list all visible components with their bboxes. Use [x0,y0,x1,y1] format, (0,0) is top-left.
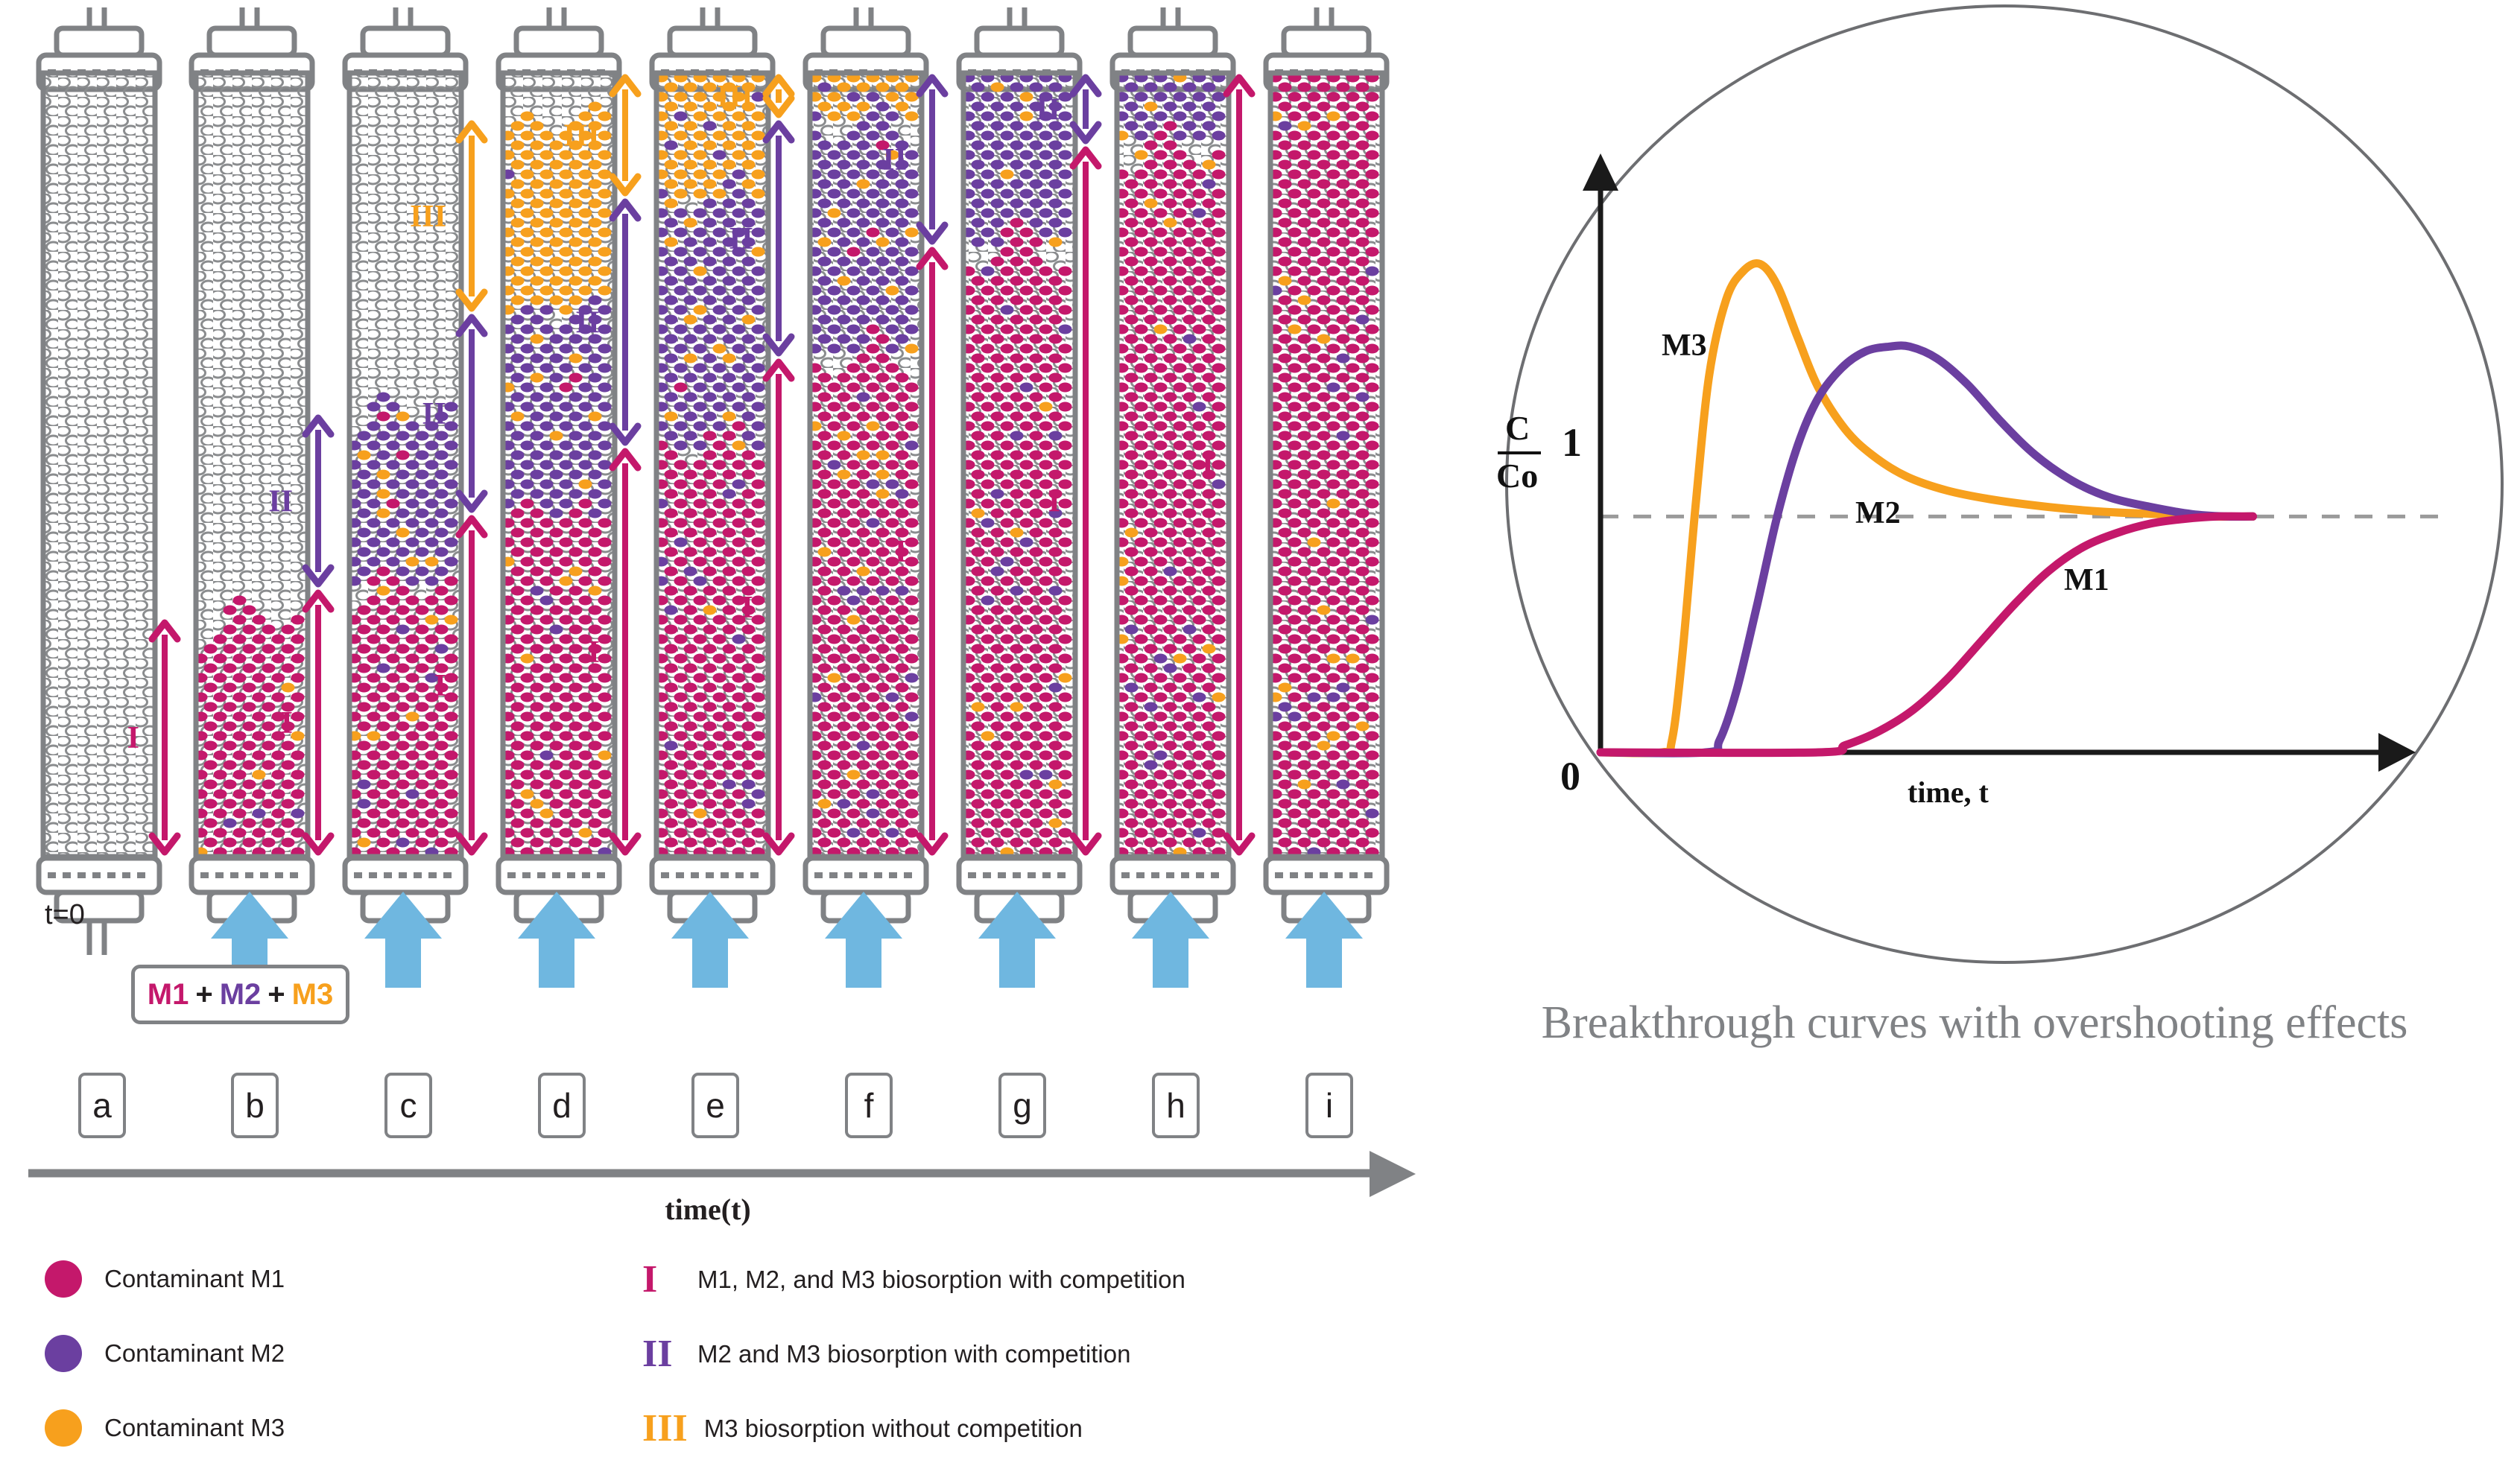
zone-numeral: II [1036,93,1060,127]
zone-numeral: I [1048,485,1060,519]
panel-label-text: i [1326,1085,1333,1126]
feed-plus-2: + [267,978,285,1012]
panel-label-text: f [864,1085,874,1126]
feed-m3: M3 [292,978,334,1012]
column-c [345,7,466,955]
chart-frame-ellipse [1507,6,2502,962]
zone-numeral: III [717,80,753,114]
panel-label-text: g [1013,1085,1032,1126]
legend-species-label: Contaminant M2 [104,1339,285,1368]
zone-numeral: III [563,119,600,153]
zone-numeral: I [1202,448,1214,483]
feed-m1: M1 [148,978,189,1012]
zone-numeral: II [882,143,907,177]
panel-label-a: a [78,1073,126,1138]
chart-xlabel: time, t [1908,775,1989,810]
legend-species-item: Contaminant M3 [45,1409,285,1447]
column-e [652,7,773,955]
chart-annotation-m3: M3 [1662,328,1707,364]
legend-swatch-m1-icon [45,1260,82,1298]
legend-zone-item: IM1, M2, and M3 biosorption with competi… [642,1257,1185,1301]
chart-ytick-0: 0 [1560,753,1580,799]
chart-title: Breakthrough curves with overshooting ef… [1438,997,2511,1050]
chart-ylabel-num: C [1505,408,1530,448]
legend-zone-label: M3 biosorption without competition [704,1415,1083,1443]
legend-species-label: Contaminant M3 [104,1414,285,1442]
legend-numeral-III: III [642,1406,688,1450]
timeline-axis [28,1151,1416,1197]
zone-numeral: II [422,397,446,431]
figure-canvas: IIIIIIIIIIIIIIIIIIIIIIIIIIIII [0,0,2520,1460]
panel-label-c: c [384,1073,432,1138]
timeline-label: time(t) [0,1192,1416,1227]
legend-species-label: Contaminant M1 [104,1265,285,1293]
t-zero-label: t=0 [45,899,85,931]
chart-x-axis-arrowhead [2378,733,2416,772]
legend-zone-item: IIM2 and M3 biosorption with competition [642,1332,1130,1376]
columns-group [39,7,1387,955]
panel-label-text: e [706,1085,725,1126]
legend-zone-item: IIIM3 biosorption without competition [642,1406,1083,1450]
panel-label-h: h [1152,1073,1200,1138]
legend-swatch-m2-icon [45,1335,82,1372]
legend-numeral-II: II [642,1332,681,1376]
panel-label-b: b [231,1073,279,1138]
zone-numeral: II [268,485,293,519]
feed-m2: M2 [220,978,262,1012]
chart-series-M1 [1601,516,2253,753]
panel-label-text: a [92,1085,112,1126]
legend-numeral-I: I [642,1257,681,1301]
panel-label-e: e [691,1073,739,1138]
legend-species-item: Contaminant M1 [45,1260,285,1298]
column-b [191,7,312,955]
column-h [1112,7,1233,955]
feed-plus-1: + [195,978,212,1012]
panel-label-d: d [538,1073,586,1138]
legend-zone-label: M2 and M3 biosorption with competition [697,1340,1130,1368]
zone-numeral: I [127,721,139,755]
zone-numeral: I [434,669,446,703]
chart-ylabel-den: Co [1496,456,1538,495]
column-i [1266,7,1387,955]
legend-species-item: Contaminant M2 [45,1335,285,1372]
legend-swatch-m3-icon [45,1409,82,1447]
breakthrough-chart [1507,6,2502,962]
chart-annotation-m1: M1 [2064,562,2109,598]
feed-composition-box: M1 + M2 + M3 [131,965,349,1024]
column-a [39,7,159,955]
zone-numeral: I [741,591,753,625]
zone-numeral: II [729,222,753,256]
panel-label-text: d [552,1085,572,1126]
zone-numeral: III [410,200,446,234]
chart-y-axis-arrowhead [1583,153,1618,191]
panel-label-text: h [1166,1085,1185,1126]
column-f [805,7,926,955]
column-g [959,7,1080,955]
column-d [498,7,619,955]
zone-numeral: II [575,306,600,340]
chart-series-M2 [1601,346,2253,753]
panel-label-i: i [1305,1073,1353,1138]
panel-label-text: b [245,1085,265,1126]
zone-numeral: I [588,635,600,670]
chart-ylabel-rule [1498,451,1541,454]
zone-numeral: I [281,706,293,740]
panel-label-f: f [845,1073,893,1138]
panel-label-g: g [998,1073,1046,1138]
zone-numeral: I [895,535,907,569]
legend-zone-label: M1, M2, and M3 biosorption with competit… [697,1266,1185,1294]
panel-label-text: c [400,1085,417,1126]
chart-ytick-1: 1 [1562,419,1582,466]
chart-annotation-m2: M2 [1855,495,1901,531]
